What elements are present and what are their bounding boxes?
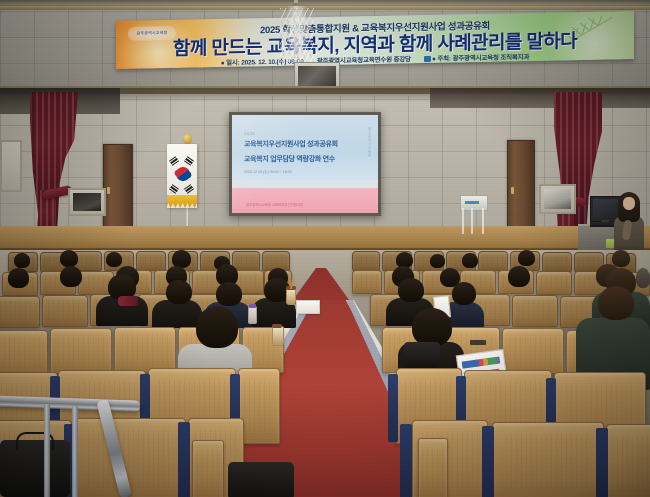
projected-slide: 2025 교육복지우선지원사업 성과공유회 교육복지 업무담당 역량강화 연수 … (232, 115, 378, 213)
slide-year: 2025 (244, 131, 255, 136)
podium-emblem (465, 201, 479, 204)
wall-notice-frame (0, 140, 22, 192)
seat-row-a-16[interactable] (542, 252, 572, 272)
event-banner: 광주광역시교육청 2025 학생맞춤통합지원 & 교육복지우선지원사업 성과공유… (116, 11, 634, 69)
attendee-head-a7 (430, 254, 445, 268)
seat-row-e-4[interactable] (238, 368, 280, 444)
bottle-cap (249, 304, 256, 308)
seat-row-c-1[interactable] (0, 296, 40, 328)
wall-monitor-right-glass (544, 189, 571, 209)
coffee-cup-mid (286, 288, 296, 305)
seat-row-d-1[interactable] (0, 330, 48, 376)
trigram-gon-icon (184, 184, 194, 194)
attendee-head-d2 (412, 308, 452, 346)
seat-row-a-5[interactable] (136, 251, 166, 271)
seat-side-panel-e4 (388, 374, 398, 442)
wall-soffit-right (430, 88, 650, 108)
seat-row-b-9[interactable] (352, 270, 382, 294)
attendee-head-a8 (462, 253, 478, 268)
flag-finial-icon (183, 133, 192, 144)
seat-side-panel-f4 (482, 426, 494, 497)
auditorium-photo: 광주광역시교육청 2025 학생맞춤통합지원 & 교육복지우선지원사업 성과공유… (0, 0, 650, 497)
projector-lens (298, 66, 336, 86)
seat-row-d-3[interactable] (114, 327, 176, 373)
handrail-post-2 (72, 406, 78, 497)
attendee-head-c6 (452, 282, 476, 305)
seat-tablet-arm-2[interactable] (418, 438, 448, 497)
wall-monitor-left (68, 188, 106, 216)
door-handle-icon (511, 187, 514, 194)
attendee-head-b1 (8, 268, 29, 288)
wall-monitor-right (539, 184, 576, 214)
seat-row-b-14[interactable] (536, 271, 572, 295)
leaflet-dot-icons (462, 356, 501, 368)
seat-row-c-2[interactable] (42, 295, 88, 327)
attendee-head-b9 (508, 266, 530, 287)
taeguk-icon (173, 164, 192, 183)
host-mark-icon (424, 56, 431, 62)
slide-bottom-band (232, 188, 378, 213)
seat-tablet-arm-1[interactable] (192, 440, 224, 497)
attendee-head-a10 (612, 250, 630, 267)
water-bottle-mid (248, 306, 257, 324)
stage-door-right[interactable] (507, 140, 535, 232)
coffee-cup-aisle (272, 326, 284, 346)
handbag-right-aisle (404, 342, 440, 368)
seat-row-f-5[interactable] (492, 422, 604, 497)
slide-footer: 광주광역시교육청 교육복지우선지원사업 (246, 202, 303, 207)
cup-lid (272, 324, 282, 328)
paper-sheet-mid (296, 300, 320, 314)
attendee-head-b11 (636, 268, 650, 288)
korean-flag (167, 144, 197, 208)
slide-title-2: 교육복지 업무담당 역량강화 연수 (244, 154, 335, 164)
attendee-body-c2 (152, 300, 202, 328)
podium-legs (462, 208, 484, 234)
fixture-tinsel (280, 8, 314, 62)
attendee-head-a2 (60, 250, 78, 267)
door-handle-icon (107, 187, 110, 194)
seat-number-plate (470, 340, 486, 345)
seat-side-panel-f5 (596, 428, 608, 497)
handrail-post-1 (44, 404, 50, 497)
attendee-scarf (118, 296, 138, 306)
seat-row-a-10[interactable] (352, 251, 380, 271)
trigram-ri-icon (169, 184, 179, 194)
attendee-head-d1 (196, 306, 238, 348)
flag-fringe (167, 195, 197, 208)
seat-row-d-2[interactable] (50, 328, 112, 374)
attendee-head-c5 (398, 278, 424, 302)
presenter (612, 192, 644, 254)
attendee-head-d3 (598, 286, 634, 320)
attendee-head-a1 (14, 253, 30, 268)
presenter-face (623, 197, 635, 210)
seat-row-f-6[interactable] (606, 424, 650, 497)
attendee-head-b2 (60, 266, 82, 287)
seat-row-f-2[interactable] (74, 418, 186, 497)
stage-door-left[interactable] (103, 144, 133, 230)
attendee-head-c2 (166, 280, 192, 304)
trigram-gam-icon (184, 156, 194, 166)
wall-monitor-left-glass (73, 193, 101, 211)
slide-title-1: 교육복지우선지원사업 성과공유회 (244, 139, 338, 149)
attendee-head-c3 (216, 282, 242, 306)
projection-screen: 2025 교육복지우선지원사업 성과공유회 교육복지 업무담당 역량강화 연수 … (229, 112, 381, 216)
slide-side-note: 광주광역시교육청 (367, 127, 372, 157)
seat-row-c-10[interactable] (512, 295, 558, 327)
seat-row-d-8[interactable] (502, 328, 564, 374)
seat-side-panel-f2 (178, 422, 190, 497)
attendee-head-a3 (106, 252, 122, 267)
slide-subtitle: 2025.12.10.(수) 09:00 ~ 16:30 (244, 170, 292, 175)
trigram-geon-icon (169, 156, 179, 166)
seat-side-panel-f3 (400, 424, 412, 497)
attendee-head-a9 (518, 250, 535, 266)
handbag-aisle (228, 462, 294, 497)
seat-row-a-14[interactable] (478, 251, 508, 271)
